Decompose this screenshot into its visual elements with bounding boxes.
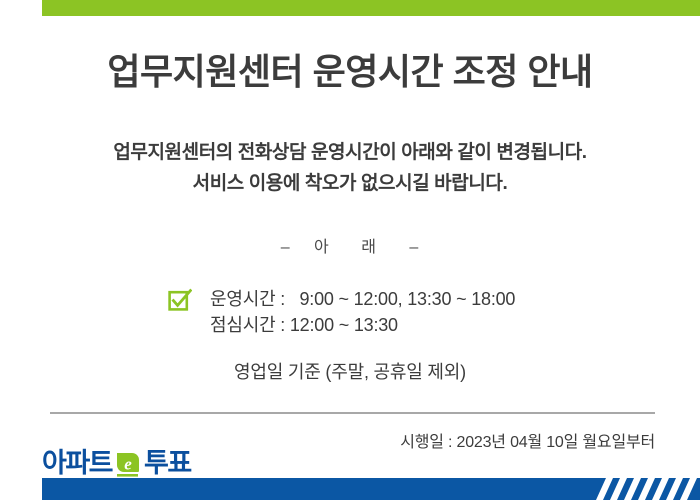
logo-word-left: 아파트 bbox=[42, 450, 112, 477]
logo-word-right: 투표 bbox=[144, 450, 191, 477]
top-green-bar bbox=[42, 0, 700, 16]
hours-text: 운영시간 : 9:00 ~ 12:00, 13:30 ~ 18:00 점심시간 … bbox=[210, 286, 515, 338]
diagonal-stripes-decoration bbox=[590, 478, 700, 500]
leaf-e-emblem-icon: e bbox=[113, 449, 143, 479]
business-day-note: 영업일 기준 (주말, 공휴일 제외) bbox=[0, 358, 700, 384]
subtitle-line-2: 서비스 이용에 착오가 없으시길 바랍니다. bbox=[0, 168, 700, 199]
svg-text:e: e bbox=[124, 455, 132, 474]
bottom-blue-bar bbox=[42, 478, 700, 500]
notice-card: 업무지원센터 운영시간 조정 안내 업무지원센터의 전화상담 운영시간이 아래와… bbox=[0, 0, 700, 500]
lunch-hours-row: 점심시간 : 12:00 ~ 13:30 bbox=[210, 312, 515, 338]
operating-hours-value: 9:00 ~ 12:00, 13:30 ~ 18:00 bbox=[299, 289, 515, 309]
lunch-hours-value: 12:00 ~ 13:30 bbox=[290, 315, 398, 335]
operating-hours-row: 운영시간 : 9:00 ~ 12:00, 13:30 ~ 18:00 bbox=[210, 286, 515, 312]
effective-date: 시행일 : 2023년 04월 10일 월요일부터 bbox=[400, 428, 655, 452]
subtitle-line-1: 업무지원센터의 전화상담 운영시간이 아래와 같이 변경됩니다. bbox=[0, 137, 700, 168]
operating-hours-label: 운영시간 : bbox=[210, 289, 285, 309]
lunch-hours-label: 점심시간 : bbox=[210, 315, 285, 335]
below-label: 아 래 bbox=[310, 233, 390, 257]
operating-hours-block: 운영시간 : 9:00 ~ 12:00, 13:30 ~ 18:00 점심시간 … bbox=[168, 286, 515, 338]
subtitle-block: 업무지원센터의 전화상담 운영시간이 아래와 같이 변경됩니다. 서비스 이용에… bbox=[0, 137, 700, 200]
below-dash-right: – bbox=[395, 239, 433, 257]
below-dash-left: – bbox=[267, 239, 305, 257]
brand-logo: 아파트 e 투표 bbox=[42, 447, 191, 479]
footer-divider bbox=[50, 412, 655, 414]
checkbox-checked-icon bbox=[168, 288, 192, 312]
below-separator: – 아 래 – bbox=[0, 233, 700, 257]
page-title: 업무지원센터 운영시간 조정 안내 bbox=[0, 52, 700, 92]
